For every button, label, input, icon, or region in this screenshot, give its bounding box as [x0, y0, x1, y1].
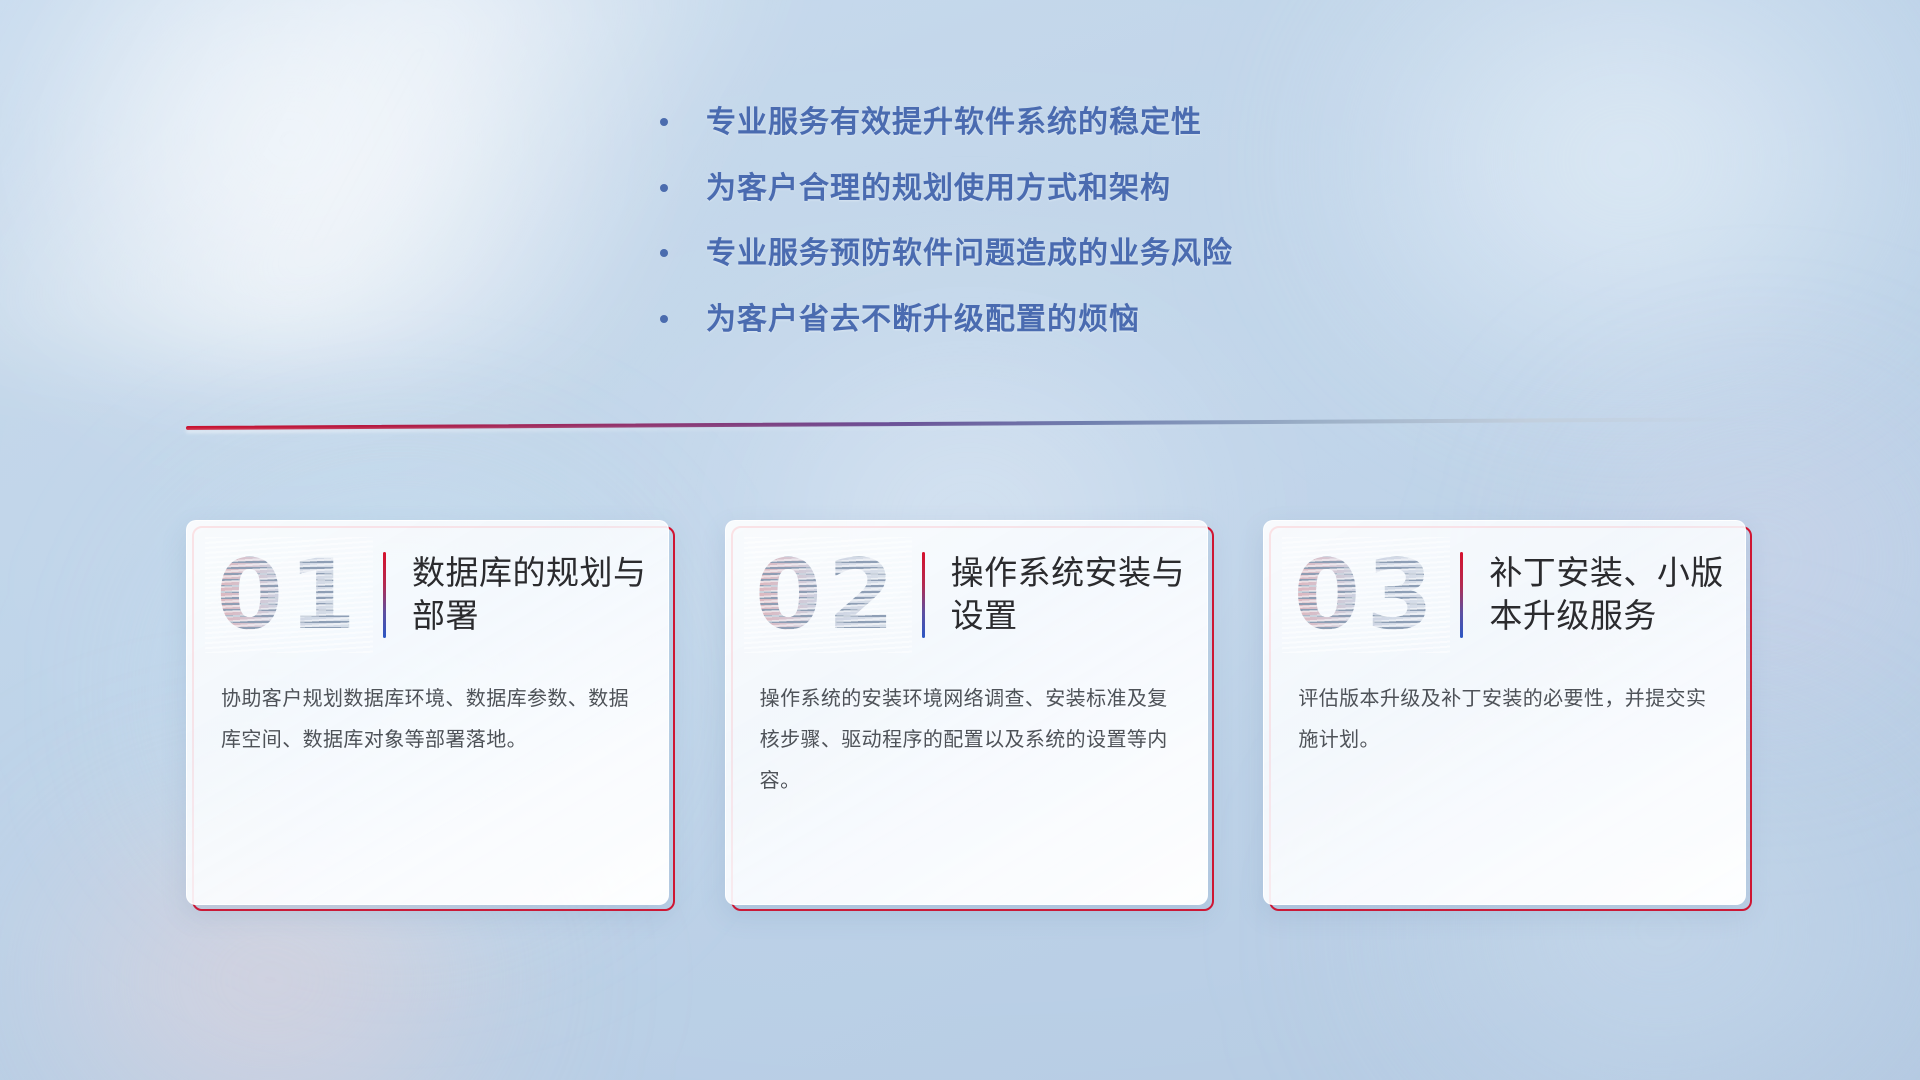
- card-title: 补丁安装、小版本升级服务: [1489, 552, 1745, 638]
- card-description: 协助客户规划数据库环境、数据库参数、数据库空间、数据库对象等部署落地。: [187, 669, 668, 761]
- card-number-label: 02: [744, 537, 912, 653]
- bullet-item-label: 专业服务预防软件问题造成的业务风险: [706, 235, 1233, 273]
- card-divider-bar: [383, 552, 386, 638]
- card-divider-bar: [1460, 552, 1463, 638]
- card-face: 03 补丁安装、小版本升级服务 评估版本升级及补丁安装的必要性，并提交实施计划。: [1263, 520, 1746, 905]
- section-divider: [186, 418, 1746, 442]
- card-header: 02 操作系统安装与设置: [726, 521, 1207, 669]
- benefits-bullet-list: 专业服务有效提升软件系统的稳定性 为客户合理的规划使用方式和架构 专业服务预防软…: [660, 104, 1560, 366]
- bullet-item: 为客户合理的规划使用方式和架构: [660, 170, 1560, 208]
- card-number-label: 03: [1282, 537, 1450, 653]
- bullet-item-label: 专业服务有效提升软件系统的稳定性: [706, 104, 1202, 142]
- card-header: 03 补丁安装、小版本升级服务: [1264, 521, 1745, 669]
- service-card[interactable]: 02 操作系统安装与设置 操作系统的安装环境网络调查、安装标准及复核步骤、驱动程…: [725, 520, 1208, 905]
- card-title: 操作系统安装与设置: [951, 552, 1207, 638]
- service-card[interactable]: 01 数据库的规划与部署 协助客户规划数据库环境、数据库参数、数据库空间、数据库…: [186, 520, 669, 905]
- card-description: 操作系统的安装环境网络调查、安装标准及复核步骤、驱动程序的配置以及系统的设置等内…: [726, 669, 1207, 802]
- card-title: 数据库的规划与部署: [412, 552, 668, 638]
- card-face: 02 操作系统安装与设置 操作系统的安装环境网络调查、安装标准及复核步骤、驱动程…: [725, 520, 1208, 905]
- bullet-dot-icon: [660, 249, 668, 257]
- card-description: 评估版本升级及补丁安装的必要性，并提交实施计划。: [1264, 669, 1745, 761]
- card-number-badge: 03: [1282, 537, 1450, 653]
- card-number-label: 01: [205, 537, 373, 653]
- bullet-dot-icon: [660, 315, 668, 323]
- bullet-dot-icon: [660, 184, 668, 192]
- card-number-badge: 02: [744, 537, 912, 653]
- slide-canvas: 专业服务有效提升软件系统的稳定性 为客户合理的规划使用方式和架构 专业服务预防软…: [0, 0, 1920, 1080]
- service-card-list: 01 数据库的规划与部署 协助客户规划数据库环境、数据库参数、数据库空间、数据库…: [186, 520, 1746, 905]
- service-card[interactable]: 03 补丁安装、小版本升级服务 评估版本升级及补丁安装的必要性，并提交实施计划。: [1263, 520, 1746, 905]
- bullet-item-label: 为客户合理的规划使用方式和架构: [706, 170, 1171, 208]
- card-face: 01 数据库的规划与部署 协助客户规划数据库环境、数据库参数、数据库空间、数据库…: [186, 520, 669, 905]
- card-number-badge: 01: [205, 537, 373, 653]
- bullet-dot-icon: [660, 118, 668, 126]
- divider-gradient-line: [186, 417, 1746, 430]
- bullet-item: 专业服务预防软件问题造成的业务风险: [660, 235, 1560, 273]
- card-divider-bar: [922, 552, 925, 638]
- bullet-item: 专业服务有效提升软件系统的稳定性: [660, 104, 1560, 142]
- card-header: 01 数据库的规划与部署: [187, 521, 668, 669]
- bullet-item-label: 为客户省去不断升级配置的烦恼: [706, 301, 1140, 339]
- bullet-item: 为客户省去不断升级配置的烦恼: [660, 301, 1560, 339]
